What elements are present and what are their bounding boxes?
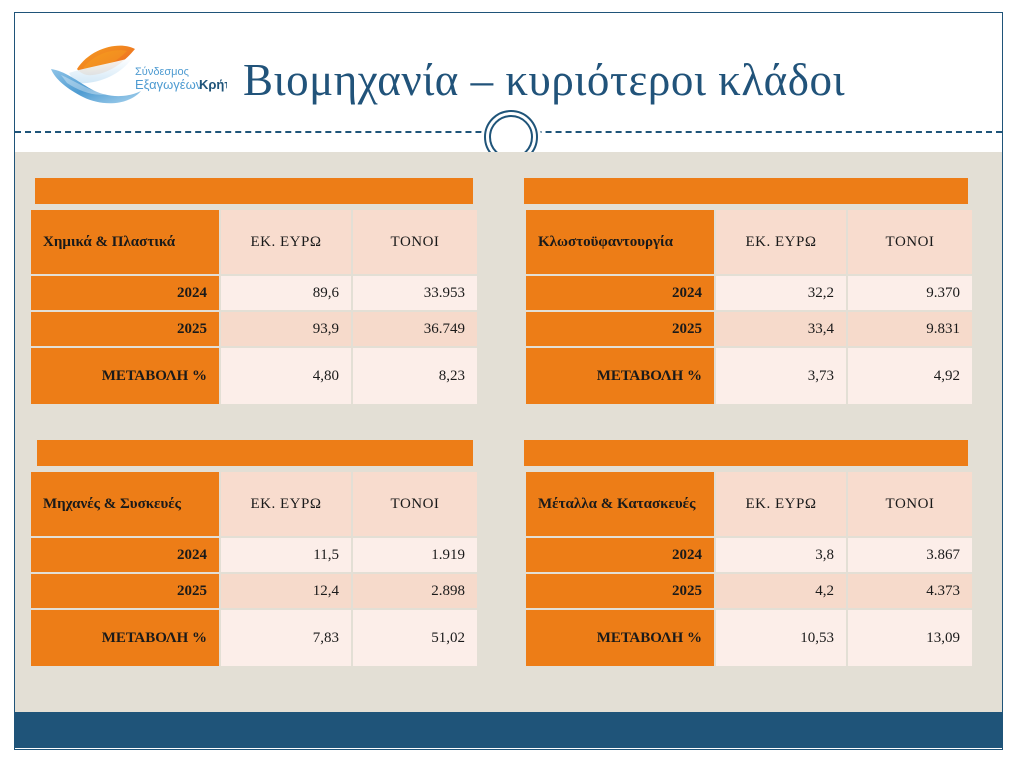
column-header-euro: ΕΚ. ΕΥΡΩ bbox=[716, 472, 846, 536]
row-label-change: ΜΕΤΑΒΟΛΗ % bbox=[31, 610, 219, 666]
cell-euro: 89,6 bbox=[221, 276, 351, 310]
row-label: 2024 bbox=[31, 276, 219, 310]
table-top-accent-bar bbox=[35, 178, 473, 204]
organization-logo: Σύνδεσμος Εξαγωγέων Κρήτης bbox=[47, 39, 227, 111]
logo-line2-a: Εξαγωγέων bbox=[135, 77, 202, 92]
column-header-tons: ΤΟΝΟΙ bbox=[848, 472, 972, 536]
table-row: ΜΕΤΑΒΟΛΗ % 4,80 8,23 bbox=[31, 348, 477, 404]
table-title-cell: Χημικά & Πλαστικά bbox=[31, 210, 219, 274]
column-header-tons: ΤΟΝΟΙ bbox=[353, 472, 477, 536]
row-label-change: ΜΕΤΑΒΟΛΗ % bbox=[526, 610, 714, 666]
table-header-row: Χημικά & Πλαστικά ΕΚ. ΕΥΡΩ ΤΟΝΟΙ bbox=[31, 210, 477, 274]
row-label: 2024 bbox=[31, 538, 219, 572]
sector-table-textiles: Κλωστοϋφαντουργία ΕΚ. ΕΥΡΩ ΤΟΝΟΙ 2024 32… bbox=[524, 178, 968, 406]
cell-euro: 32,2 bbox=[716, 276, 846, 310]
table-row: ΜΕΤΑΒΟΛΗ % 10,53 13,09 bbox=[526, 610, 972, 666]
row-label: 2025 bbox=[526, 574, 714, 608]
table-top-accent-bar bbox=[37, 440, 473, 466]
cell-euro: 10,53 bbox=[716, 610, 846, 666]
cell-tons: 9.831 bbox=[848, 312, 972, 346]
cell-tons: 1.919 bbox=[353, 538, 477, 572]
cell-euro: 3,73 bbox=[716, 348, 846, 404]
column-header-euro: ΕΚ. ΕΥΡΩ bbox=[221, 210, 351, 274]
table-row: 2025 12,4 2.898 bbox=[31, 574, 477, 608]
row-label: 2025 bbox=[31, 312, 219, 346]
table-row: 2025 33,4 9.831 bbox=[526, 312, 972, 346]
table-title-cell: Μέταλλα & Κατασκευές bbox=[526, 472, 714, 536]
cell-euro: 7,83 bbox=[221, 610, 351, 666]
data-table: Μηχανές & Συσκευές ΕΚ. ΕΥΡΩ ΤΟΝΟΙ 2024 1… bbox=[29, 470, 479, 668]
table-row: 2024 89,6 33.953 bbox=[31, 276, 477, 310]
page-title: Βιομηχανία – κυριότεροι κλάδοι bbox=[243, 49, 963, 111]
cell-euro: 12,4 bbox=[221, 574, 351, 608]
slide-body: Χημικά & Πλαστικά ΕΚ. ΕΥΡΩ ΤΟΝΟΙ 2024 89… bbox=[15, 152, 1002, 712]
cell-euro: 4,80 bbox=[221, 348, 351, 404]
cell-tons: 9.370 bbox=[848, 276, 972, 310]
slide: Σύνδεσμος Εξαγωγέων Κρήτης Βιομηχανία – … bbox=[14, 12, 1003, 750]
row-label: 2025 bbox=[31, 574, 219, 608]
column-header-euro: ΕΚ. ΕΥΡΩ bbox=[716, 210, 846, 274]
row-label-change: ΜΕΤΑΒΟΛΗ % bbox=[31, 348, 219, 404]
cell-tons: 36.749 bbox=[353, 312, 477, 346]
cell-tons: 3.867 bbox=[848, 538, 972, 572]
table-row: ΜΕΤΑΒΟΛΗ % 3,73 4,92 bbox=[526, 348, 972, 404]
column-header-tons: ΤΟΝΟΙ bbox=[353, 210, 477, 274]
sector-table-metals-constructions: Μέταλλα & Κατασκευές ΕΚ. ΕΥΡΩ ΤΟΝΟΙ 2024… bbox=[524, 440, 968, 668]
sector-table-machines-appliances: Μηχανές & Συσκευές ΕΚ. ΕΥΡΩ ΤΟΝΟΙ 2024 1… bbox=[29, 440, 473, 668]
table-row: 2024 3,8 3.867 bbox=[526, 538, 972, 572]
column-header-tons: ΤΟΝΟΙ bbox=[848, 210, 972, 274]
logo-graphic: Σύνδεσμος Εξαγωγέων Κρήτης bbox=[47, 39, 227, 111]
cell-euro: 3,8 bbox=[716, 538, 846, 572]
table-row: 2025 4,2 4.373 bbox=[526, 574, 972, 608]
logo-line2-b: Κρήτης bbox=[199, 77, 227, 92]
cell-tons: 4.373 bbox=[848, 574, 972, 608]
data-table: Χημικά & Πλαστικά ΕΚ. ΕΥΡΩ ΤΟΝΟΙ 2024 89… bbox=[29, 208, 479, 406]
table-row: ΜΕΤΑΒΟΛΗ % 7,83 51,02 bbox=[31, 610, 477, 666]
cell-tons: 51,02 bbox=[353, 610, 477, 666]
table-top-accent-bar bbox=[524, 178, 968, 204]
cell-tons: 4,92 bbox=[848, 348, 972, 404]
table-row: 2025 93,9 36.749 bbox=[31, 312, 477, 346]
table-row: 2024 11,5 1.919 bbox=[31, 538, 477, 572]
data-table: Κλωστοϋφαντουργία ΕΚ. ΕΥΡΩ ΤΟΝΟΙ 2024 32… bbox=[524, 208, 974, 406]
row-label: 2025 bbox=[526, 312, 714, 346]
cell-tons: 13,09 bbox=[848, 610, 972, 666]
slide-header: Σύνδεσμος Εξαγωγέων Κρήτης Βιομηχανία – … bbox=[15, 13, 1002, 152]
cell-tons: 2.898 bbox=[353, 574, 477, 608]
data-table: Μέταλλα & Κατασκευές ΕΚ. ΕΥΡΩ ΤΟΝΟΙ 2024… bbox=[524, 470, 974, 668]
footer-bar bbox=[15, 712, 1002, 748]
table-header-row: Κλωστοϋφαντουργία ΕΚ. ΕΥΡΩ ΤΟΝΟΙ bbox=[526, 210, 972, 274]
row-label: 2024 bbox=[526, 276, 714, 310]
table-header-row: Μέταλλα & Κατασκευές ΕΚ. ΕΥΡΩ ΤΟΝΟΙ bbox=[526, 472, 972, 536]
column-header-euro: ΕΚ. ΕΥΡΩ bbox=[221, 472, 351, 536]
table-title-cell: Κλωστοϋφαντουργία bbox=[526, 210, 714, 274]
table-title-cell: Μηχανές & Συσκευές bbox=[31, 472, 219, 536]
cell-tons: 8,23 bbox=[353, 348, 477, 404]
cell-euro: 93,9 bbox=[221, 312, 351, 346]
cell-euro: 4,2 bbox=[716, 574, 846, 608]
table-header-row: Μηχανές & Συσκευές ΕΚ. ΕΥΡΩ ΤΟΝΟΙ bbox=[31, 472, 477, 536]
table-top-accent-bar bbox=[524, 440, 968, 466]
cell-euro: 11,5 bbox=[221, 538, 351, 572]
cell-tons: 33.953 bbox=[353, 276, 477, 310]
cell-euro: 33,4 bbox=[716, 312, 846, 346]
table-row: 2024 32,2 9.370 bbox=[526, 276, 972, 310]
sector-table-chemicals-plastics: Χημικά & Πλαστικά ΕΚ. ΕΥΡΩ ΤΟΝΟΙ 2024 89… bbox=[29, 178, 473, 406]
row-label-change: ΜΕΤΑΒΟΛΗ % bbox=[526, 348, 714, 404]
row-label: 2024 bbox=[526, 538, 714, 572]
